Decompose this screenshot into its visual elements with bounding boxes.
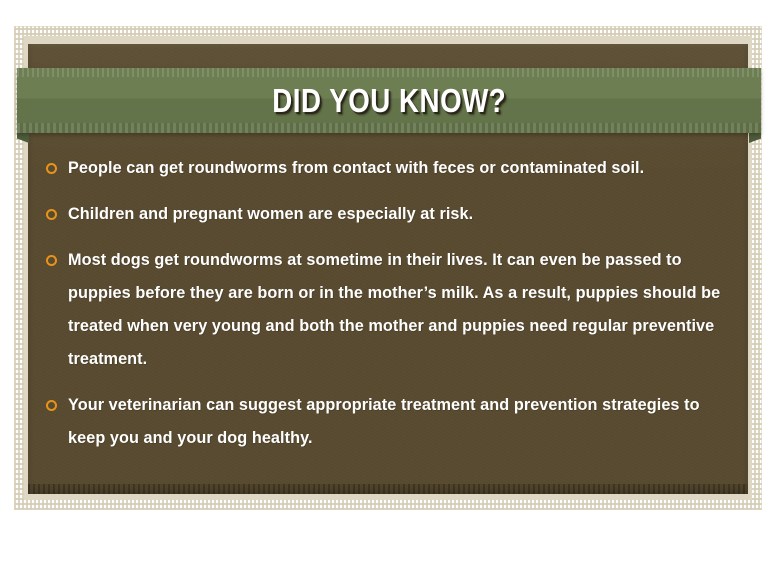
list-item: Children and pregnant women are especial…	[44, 198, 734, 231]
list-item-text: Children and pregnant women are especial…	[68, 198, 734, 231]
fact-list: People can get roundworms from contact w…	[44, 152, 734, 468]
ring-bullet-icon	[46, 163, 57, 174]
list-item-text: Most dogs get roundworms at sometime in …	[68, 244, 734, 376]
title-ribbon: DID YOU KNOW?	[17, 68, 761, 133]
ring-bullet-icon	[46, 209, 57, 220]
ring-bullet-icon	[46, 255, 57, 266]
ribbon-grain-top	[17, 68, 761, 77]
slide-title: DID YOU KNOW?	[17, 82, 761, 120]
slide-title-text: DID YOU KNOW?	[272, 82, 506, 120]
list-item: Your veterinarian can suggest appropriat…	[44, 389, 734, 455]
ring-bullet-icon	[46, 400, 57, 411]
slide-canvas: DID YOU KNOW? People can get roundworms …	[0, 0, 780, 566]
list-item: People can get roundworms from contact w…	[44, 152, 734, 185]
list-item-text: People can get roundworms from contact w…	[68, 152, 734, 185]
panel-bottom-shading	[28, 484, 748, 494]
ribbon-grain-bottom	[17, 123, 761, 133]
list-item-text: Your veterinarian can suggest appropriat…	[68, 389, 734, 455]
list-item: Most dogs get roundworms at sometime in …	[44, 244, 734, 376]
